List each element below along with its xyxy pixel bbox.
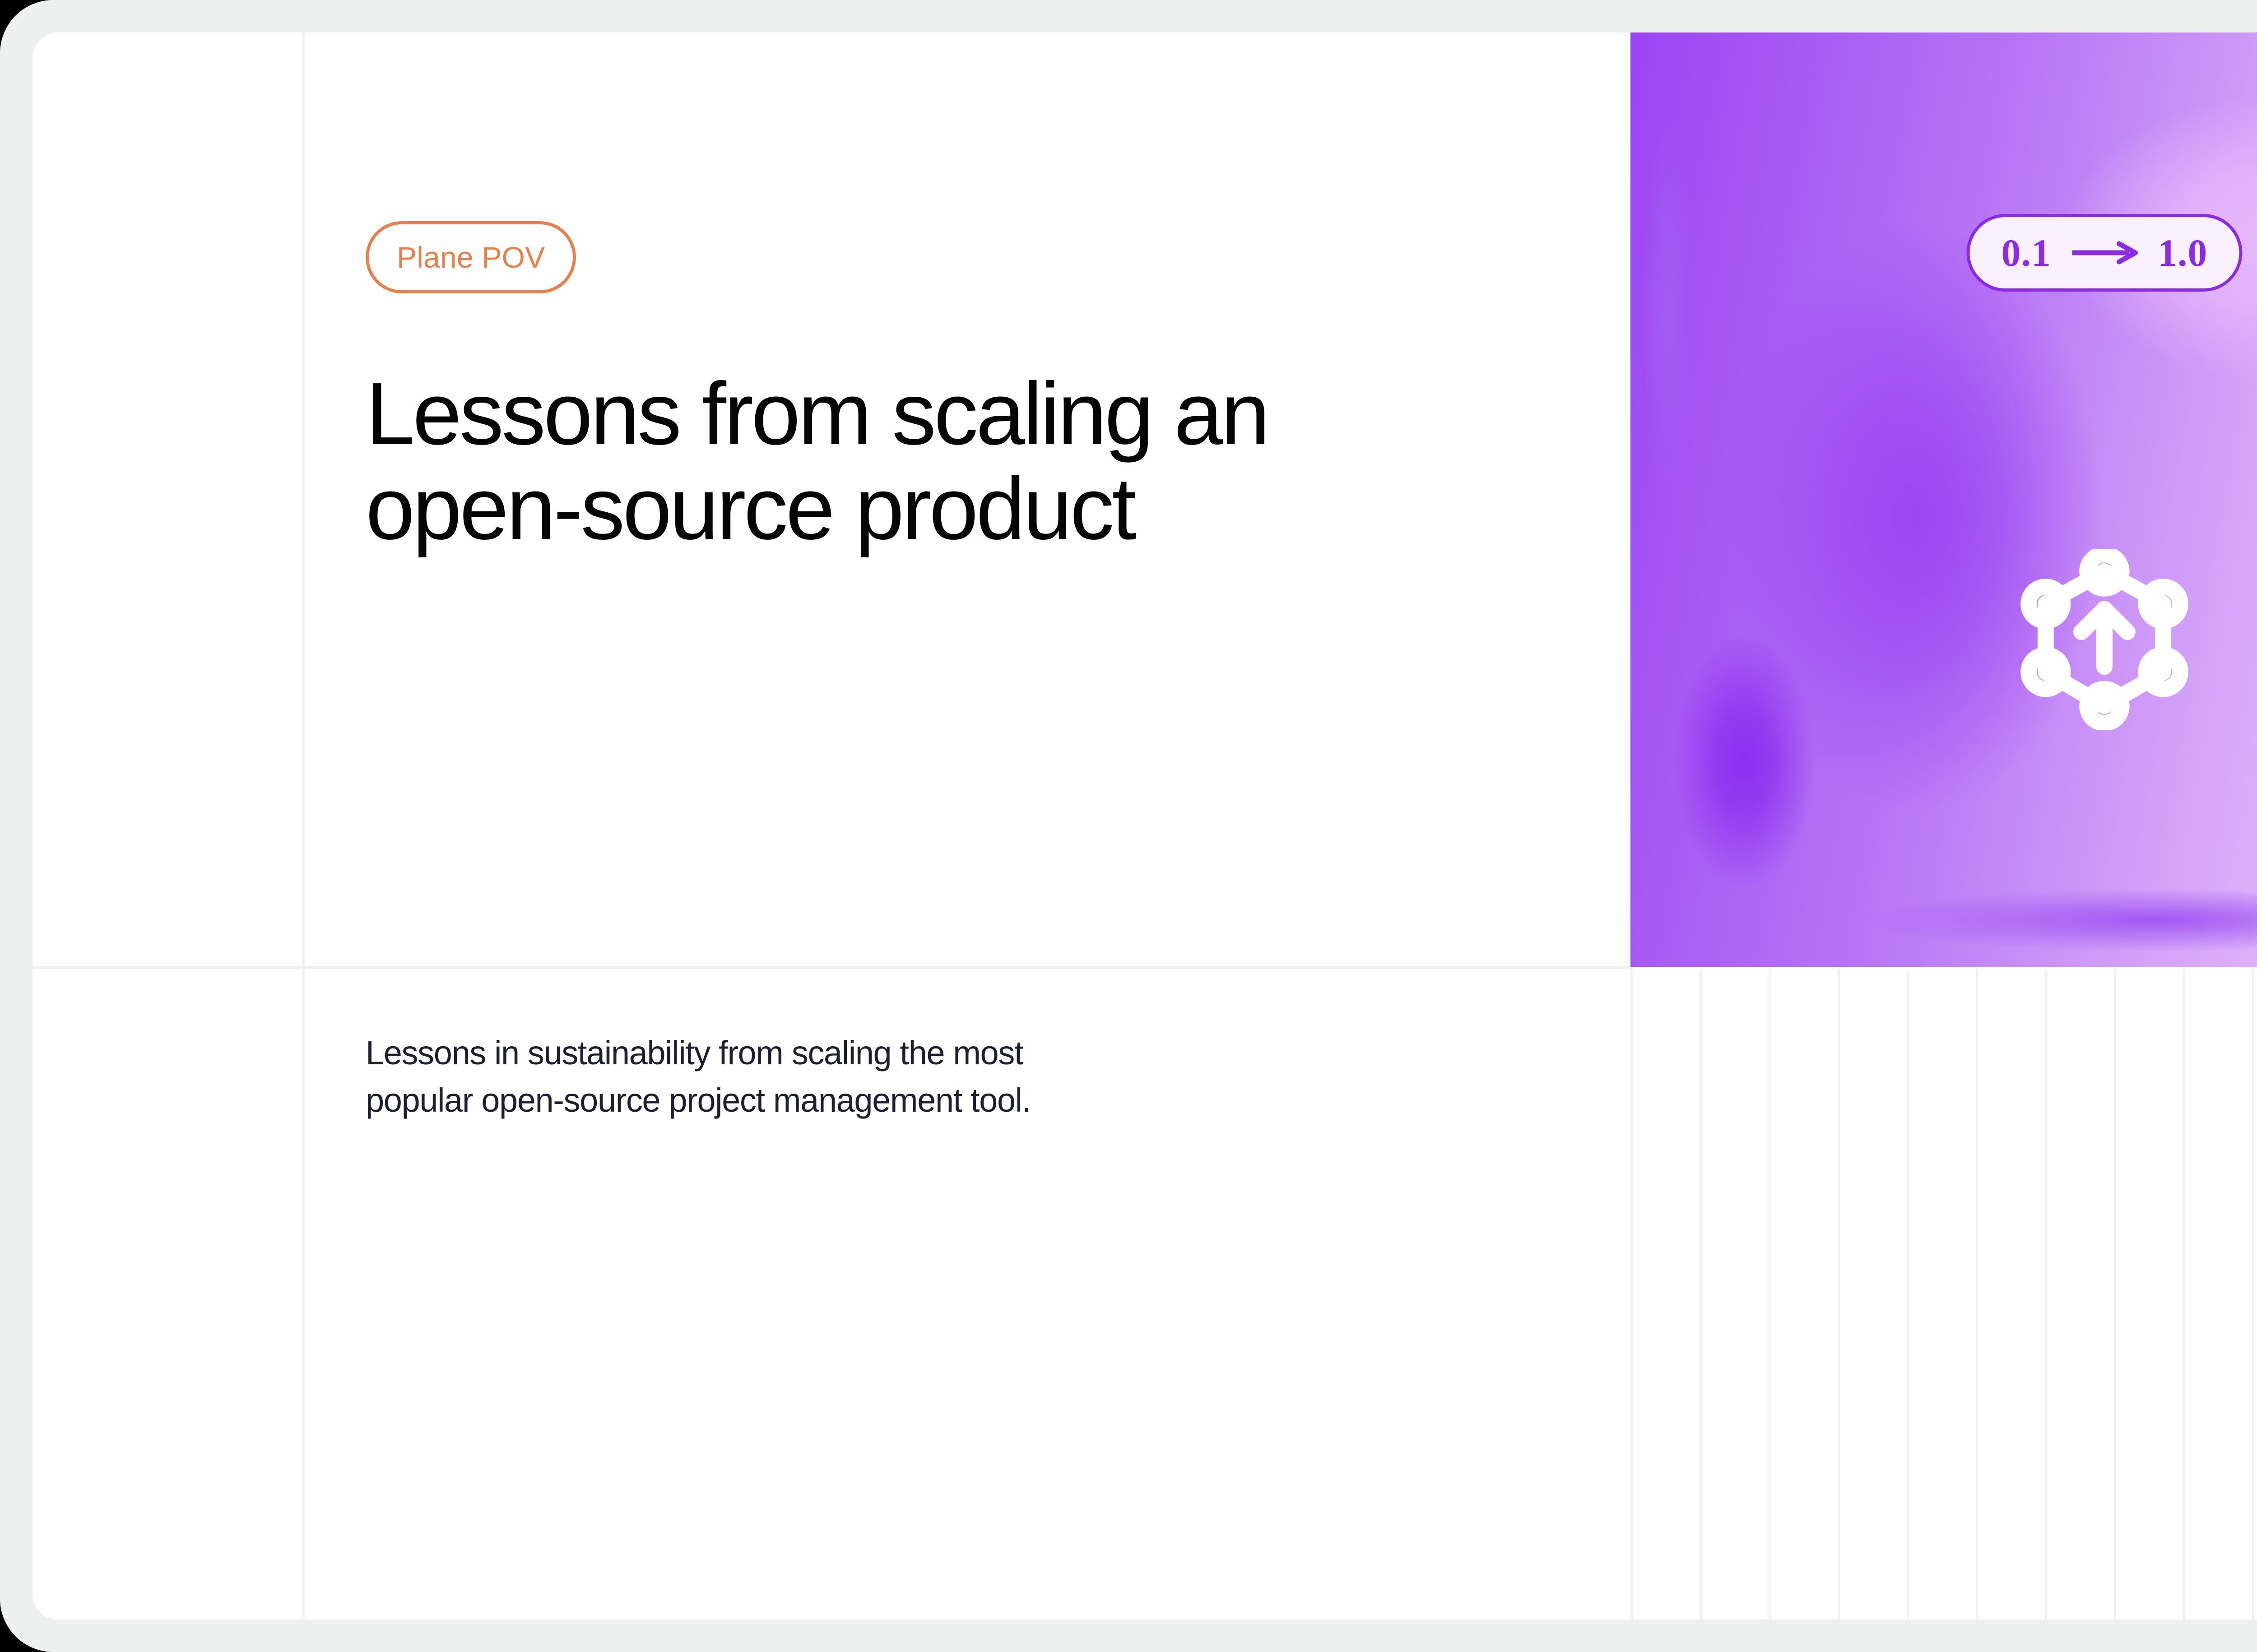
- hexagon-network-upload-icon: [2019, 549, 2190, 730]
- page-frame: Plane POV Lessons from scaling an open-s…: [0, 0, 2257, 1652]
- grid-line: [2045, 969, 2047, 1620]
- article-card: Plane POV Lessons from scaling an open-s…: [33, 32, 2257, 1620]
- grid-line: [1907, 969, 1909, 1620]
- grid-line: [2114, 969, 2116, 1620]
- grid-line: [1838, 969, 1840, 1620]
- horizontal-divider: [33, 966, 1633, 969]
- grid-line: [1976, 969, 1978, 1620]
- version-range-badge[interactable]: 0.1 1.0: [1967, 214, 2243, 292]
- grid-line: [1769, 969, 1771, 1620]
- version-to-label: 1.0: [2158, 233, 2208, 272]
- plane-pov-badge[interactable]: Plane POV: [366, 221, 576, 293]
- article-description: Lessons in sustainability from scaling t…: [366, 1029, 1070, 1124]
- grid-line: [1700, 969, 1702, 1620]
- grid-line: [2252, 969, 2254, 1620]
- vertical-divider: [302, 32, 305, 1620]
- grid-lines-area: [1630, 969, 2257, 1620]
- page-title: Lessons from scaling an open-source prod…: [366, 367, 1268, 556]
- arrow-right-icon: [2070, 240, 2139, 265]
- version-from-label: 0.1: [2002, 233, 2052, 272]
- hero-gradient-panel: 0.1 1.0: [1630, 32, 2257, 967]
- grid-line: [1630, 969, 1633, 1620]
- grid-line: [2183, 969, 2185, 1620]
